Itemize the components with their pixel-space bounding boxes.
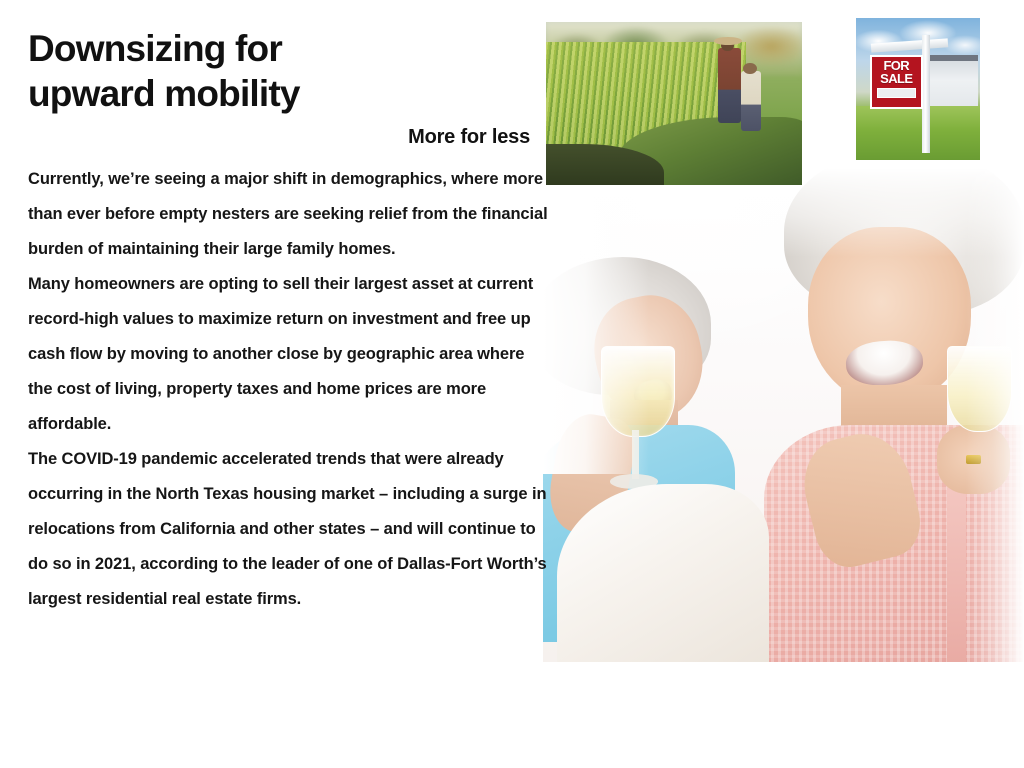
forsale-sign-rider-slot — [877, 88, 916, 99]
photo-man-and-child-by-reeds — [546, 22, 802, 185]
photo-for-sale-sign: FOR SALE — [856, 18, 980, 160]
slide-subtitle: More for less — [28, 124, 548, 150]
forsale-sign-board: FOR SALE — [870, 55, 923, 109]
body-paragraph-1: Currently, we’re seeing a major shift in… — [28, 162, 548, 267]
body-paragraph-3: The COVID-19 pandemic accelerated trends… — [28, 442, 548, 617]
body-copy: Currently, we’re seeing a major shift in… — [28, 162, 548, 617]
forsale-sign-text-sale: SALE — [880, 72, 912, 85]
slide-canvas: FOR SALE Downsizing for upward mobilit — [0, 0, 1024, 768]
forsale-lawn — [856, 106, 980, 160]
reeds-child-body — [741, 71, 761, 131]
text-column: Downsizing for upward mobility More for … — [28, 26, 548, 617]
forsale-sign-text-for: FOR — [883, 59, 909, 72]
reeds-man-body — [718, 48, 741, 123]
page-title: Downsizing for upward mobility — [28, 26, 548, 116]
forsale-sign-post — [922, 35, 931, 153]
couple-right-white-fade — [966, 168, 1024, 662]
body-paragraph-2: Many homeowners are opting to sell their… — [28, 267, 548, 442]
couple-woman-lap-blanket — [557, 484, 769, 662]
photo-senior-couple-with-wine — [543, 168, 1024, 662]
reeds-man-hat — [714, 37, 742, 45]
